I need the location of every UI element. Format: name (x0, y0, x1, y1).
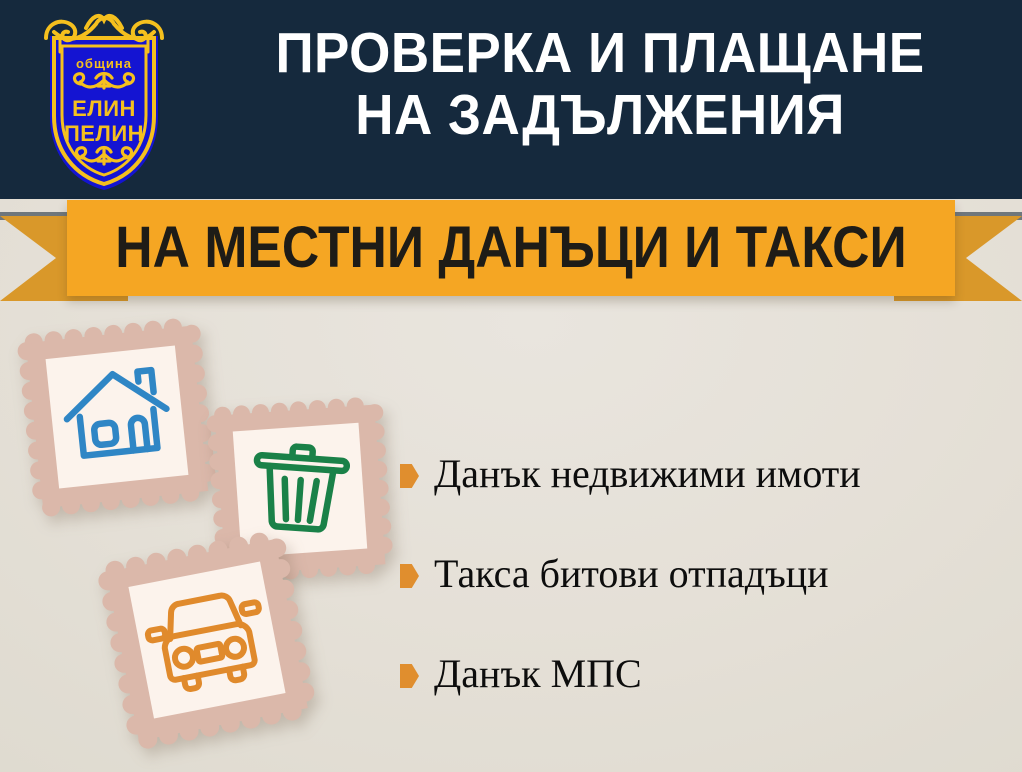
list-item-label: Такса битови отпадъци (434, 554, 829, 594)
list-item: Такса битови отпадъци (400, 524, 1014, 624)
list-item: Данък МПС (400, 624, 1014, 724)
tax-type-list: Данък недвижими имоти Такса битови отпад… (400, 424, 1014, 724)
list-item: Данък недвижими имоти (400, 424, 1014, 524)
ribbon-label: НА МЕСТНИ ДАНЪЦИ И ТАКСИ (94, 197, 929, 299)
svg-text:ПЕЛИН: ПЕЛИН (64, 121, 144, 146)
ribbon-body: НА МЕСТНИ ДАНЪЦИ И ТАКСИ (67, 200, 955, 296)
ribbon-banner: НА МЕСТНИ ДАНЪЦИ И ТАКСИ (0, 196, 1022, 308)
page-title: ПРОВЕРКА И ПЛАЩАНЕ НА ЗАДЪЛЖЕНИЯ (215, 22, 985, 146)
list-item-label: Данък МПС (434, 654, 642, 694)
arrow-bullet-icon (400, 464, 419, 488)
svg-text:ЕЛИН: ЕЛИН (72, 96, 136, 121)
municipality-logo: община ЕЛИН ПЕЛИН (24, 6, 184, 194)
arrow-bullet-icon (400, 664, 419, 688)
stamp-card-house (10, 310, 225, 525)
svg-text:община: община (76, 56, 132, 71)
list-item-label: Данък недвижими имоти (434, 454, 861, 494)
poster-canvas: ПРОВЕРКА И ПЛАЩАНЕ НА ЗАДЪЛЖЕНИЯ община (0, 0, 1022, 772)
arrow-bullet-icon (400, 564, 419, 588)
stamp-card-car (95, 528, 320, 753)
